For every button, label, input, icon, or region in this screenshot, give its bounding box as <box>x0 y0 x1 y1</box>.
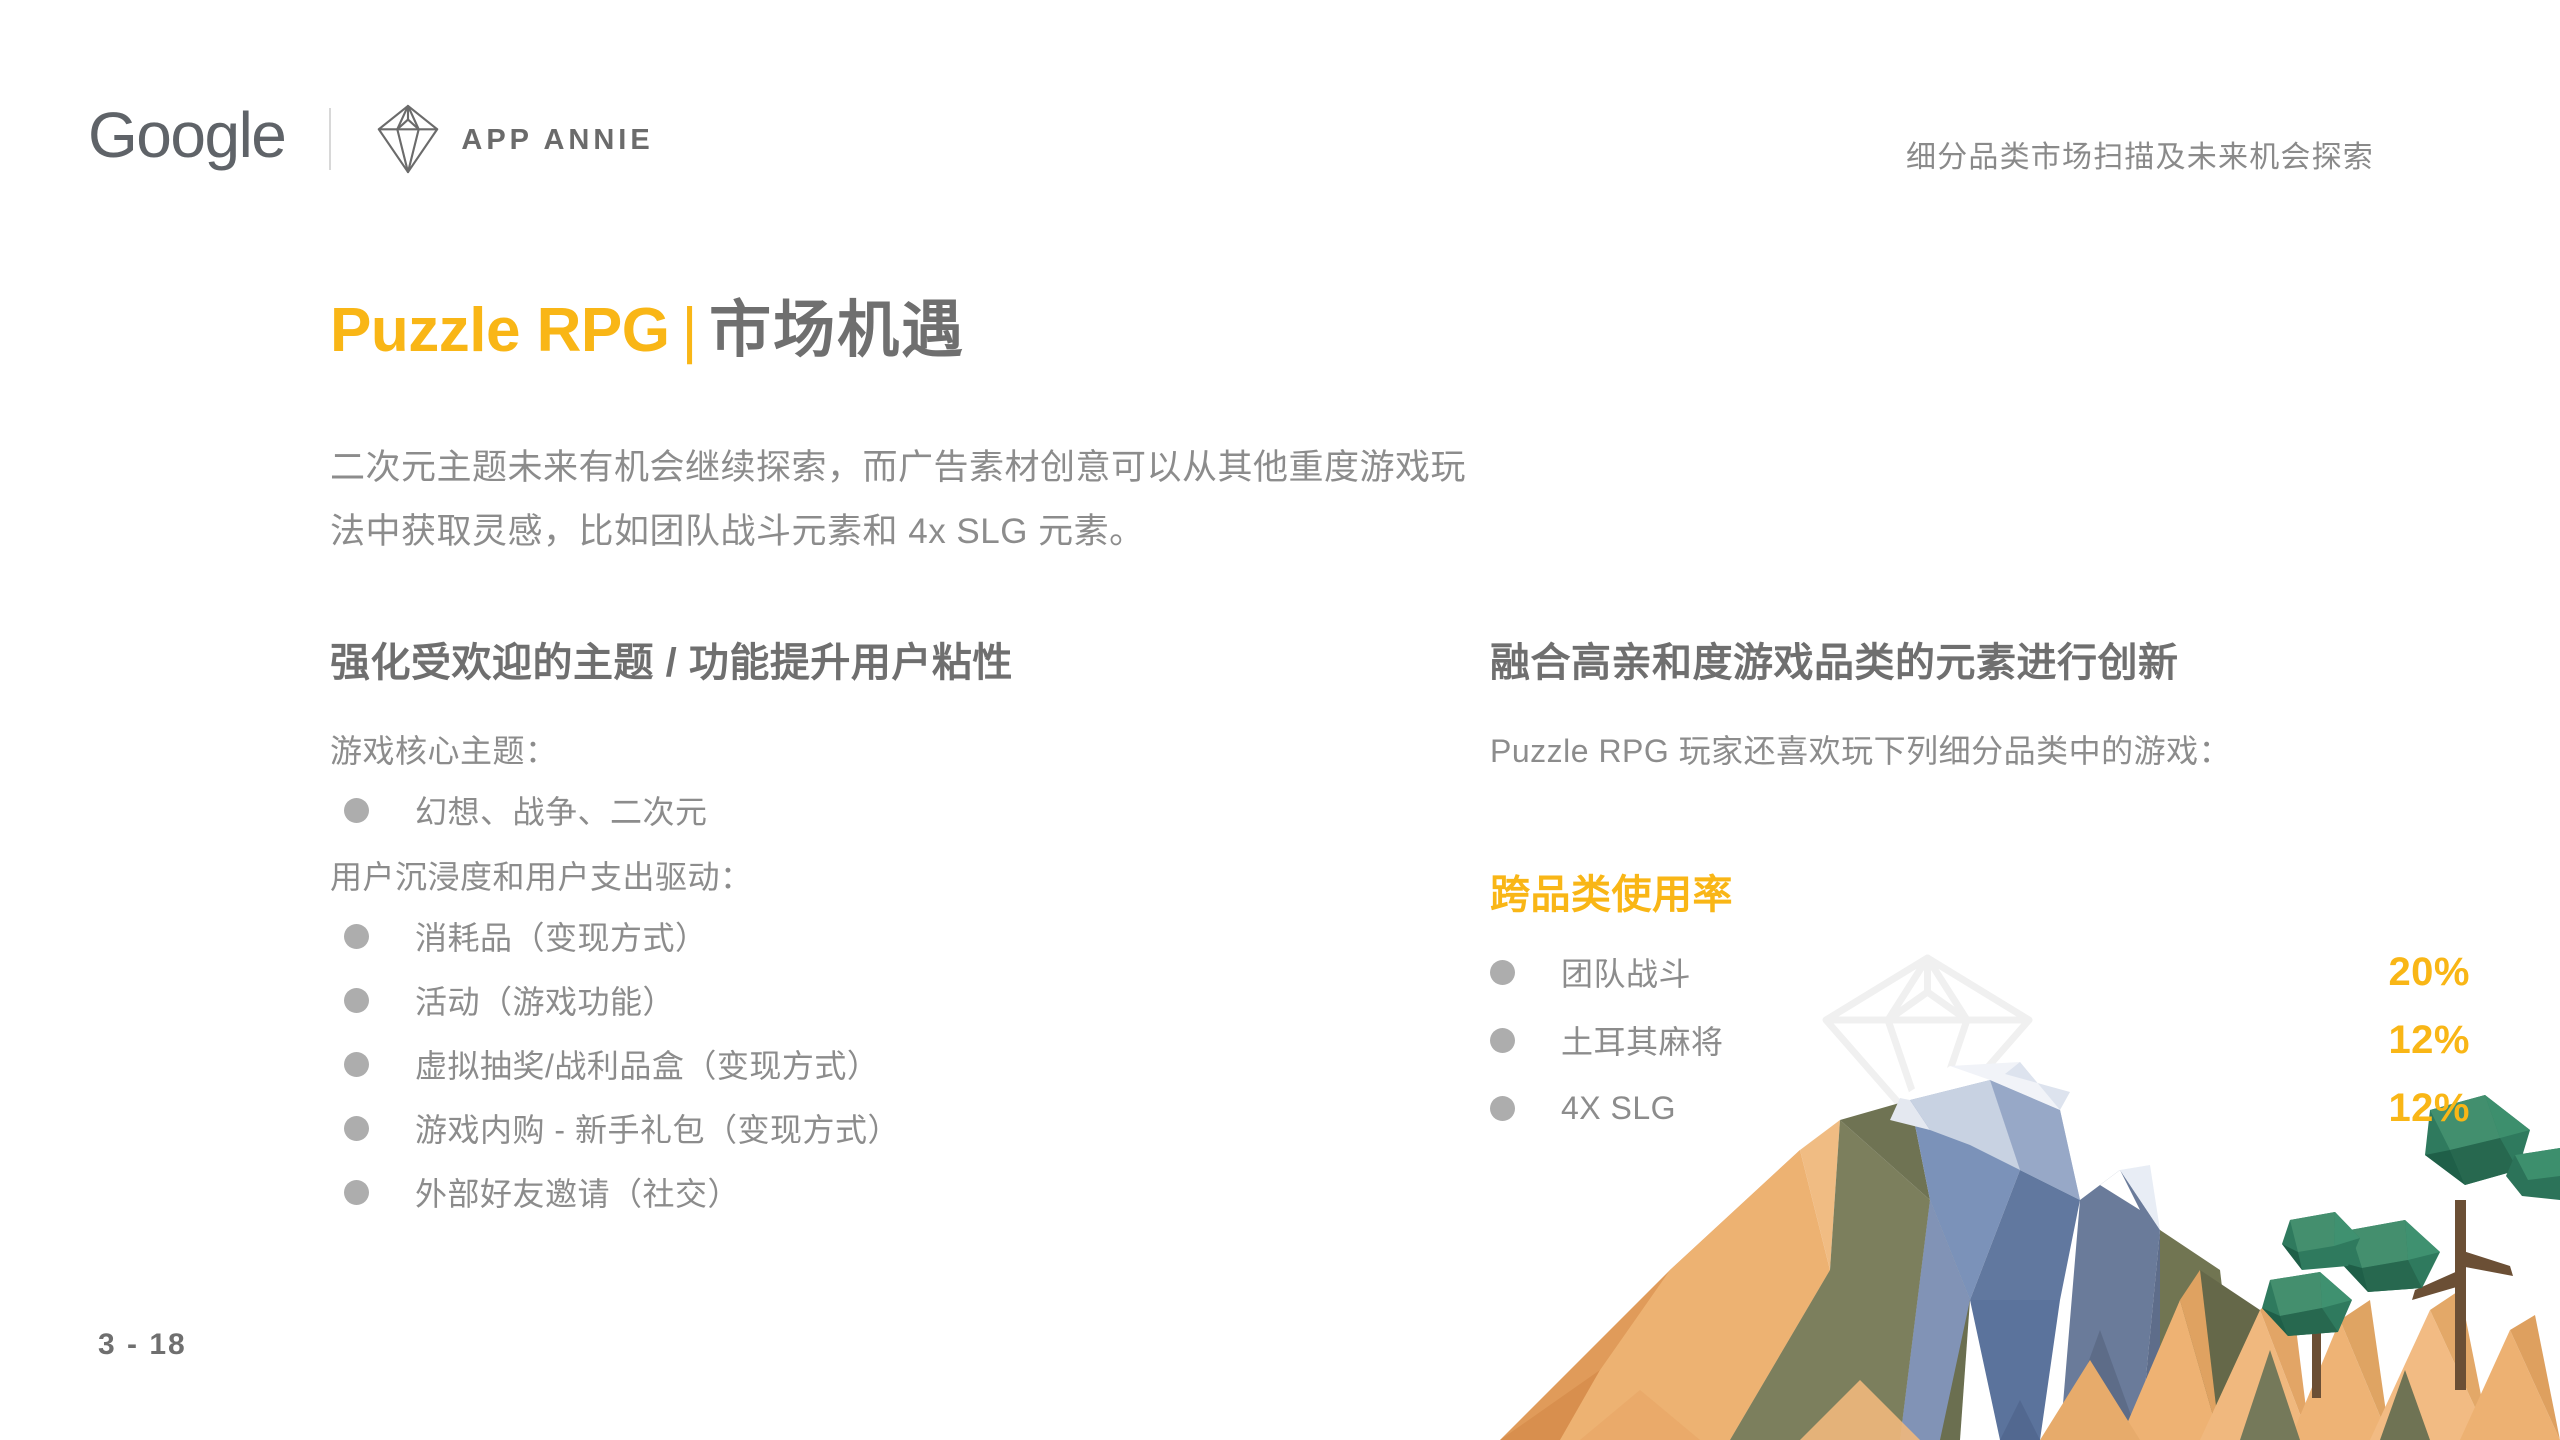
intro-paragraph: 二次元主题未来有机会继续探索，而广告素材创意可以从其他重度游戏玩法中获取灵感，比… <box>330 436 1490 564</box>
list-item: 游戏内购 - 新手礼包（变现方式） <box>344 1096 1410 1160</box>
left-column-heading: 强化受欢迎的主题 / 功能提升用户粘性 <box>330 630 1410 688</box>
list-item-label: 消耗品（变现方式） <box>415 913 708 959</box>
page-number: 3 - 18 <box>98 1328 187 1362</box>
right-column-subtext: Puzzle RPG 玩家还喜欢玩下列细分品类中的游戏： <box>1490 726 2470 772</box>
rate-value: 12% <box>2388 1086 2470 1131</box>
list-item: 活动（游戏功能） <box>344 968 1410 1032</box>
list-item: 外部好友邀请（社交） <box>344 1160 1410 1224</box>
diamond-icon <box>375 103 441 175</box>
page-title: Puzzle RPG|市场机遇 <box>330 295 965 367</box>
bullet-dot-icon <box>1490 1096 1515 1121</box>
brand-lockup: Google APP ANNIE <box>88 104 654 174</box>
right-column: 融合高亲和度游戏品类的元素进行创新 Puzzle RPG 玩家还喜欢玩下列细分品… <box>1490 630 2470 1142</box>
list-item-label: 虚拟抽奖/战利品盒（变现方式） <box>415 1041 879 1087</box>
list-item: 虚拟抽奖/战利品盒（变现方式） <box>344 1032 1410 1096</box>
left-group1-label: 游戏核心主题： <box>330 726 1410 772</box>
table-row: 4X SLG 12% <box>1490 1074 2470 1142</box>
rate-label: 团队战斗 <box>1561 949 1691 995</box>
right-column-heading: 融合高亲和度游戏品类的元素进行创新 <box>1490 630 2470 688</box>
appannie-lockup: APP ANNIE <box>375 103 653 175</box>
brand-divider <box>329 108 331 170</box>
appannie-wordmark: APP ANNIE <box>461 124 653 157</box>
rate-value: 20% <box>2388 950 2470 995</box>
rate-label: 土耳其麻将 <box>1561 1017 1724 1063</box>
google-logo: Google <box>88 103 285 167</box>
bullet-dot-icon <box>344 1052 369 1077</box>
list-item-label: 活动（游戏功能） <box>415 977 675 1023</box>
cross-category-rate-title: 跨品类使用率 <box>1490 862 2470 920</box>
slide-canvas: Google APP ANNIE 细分品类市场扫描及未来机会探索 <box>0 0 2560 1440</box>
table-row: 土耳其麻将 12% <box>1490 1006 2470 1074</box>
left-group2-label: 用户沉浸度和用户支出驱动： <box>330 852 1410 898</box>
list-item: 幻想、战争、二次元 <box>344 778 1410 842</box>
bullet-dot-icon <box>344 988 369 1013</box>
header-title: 细分品类市场扫描及未来机会探索 <box>1906 132 2374 176</box>
table-row: 团队战斗 20% <box>1490 938 2470 1006</box>
page-title-chinese: 市场机遇 <box>709 296 965 365</box>
bullet-dot-icon <box>344 924 369 949</box>
bullet-dot-icon <box>344 1116 369 1141</box>
list-item-label: 外部好友邀请（社交） <box>415 1169 740 1215</box>
page-title-separator: | <box>682 296 698 365</box>
list-item: 消耗品（变现方式） <box>344 904 1410 968</box>
slide-header: Google APP ANNIE 细分品类市场扫描及未来机会探索 <box>0 56 2560 146</box>
bullet-dot-icon <box>1490 1028 1515 1053</box>
list-item-label: 幻想、战争、二次元 <box>415 787 708 833</box>
bullet-dot-icon <box>344 1180 369 1205</box>
rate-value: 12% <box>2388 1018 2470 1063</box>
rate-label: 4X SLG <box>1561 1090 1676 1127</box>
bullet-dot-icon <box>344 798 369 823</box>
bullet-dot-icon <box>1490 960 1515 985</box>
left-column: 强化受欢迎的主题 / 功能提升用户粘性 游戏核心主题： 幻想、战争、二次元 用户… <box>330 630 1410 1224</box>
list-item-label: 游戏内购 - 新手礼包（变现方式） <box>415 1105 900 1151</box>
page-title-english: Puzzle RPG <box>330 296 670 365</box>
